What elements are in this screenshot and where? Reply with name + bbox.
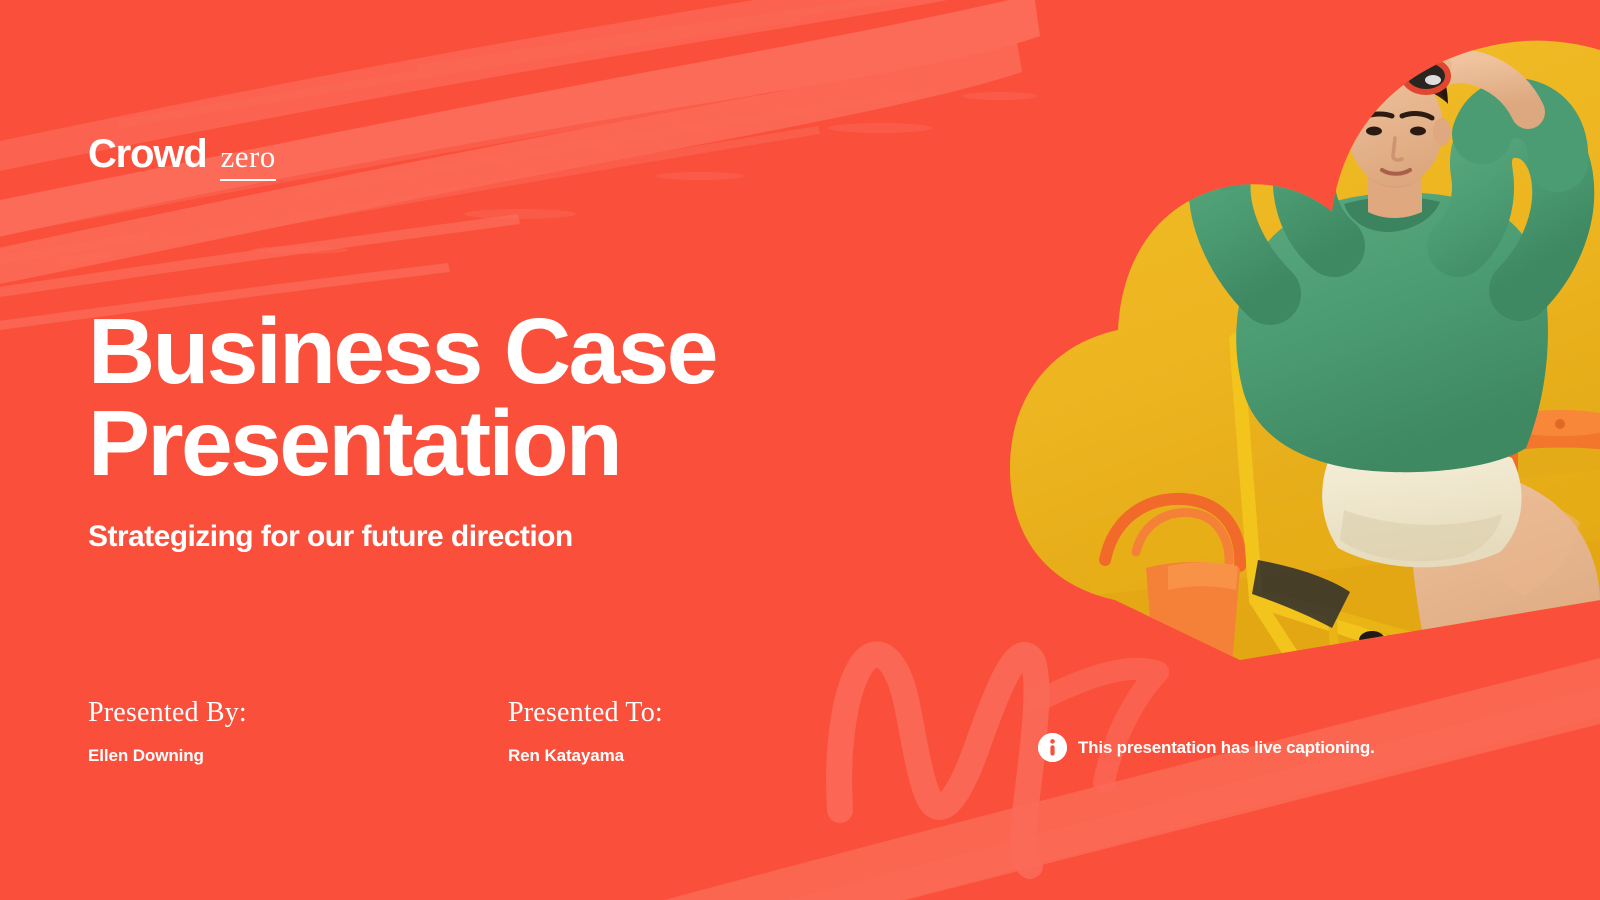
hero-photo [940,0,1600,720]
presented-by-column: Presented By: Ellen Downing [88,698,508,766]
logo-word-crowd: Crowd [88,134,206,174]
presented-by-name: Ellen Downing [88,746,508,766]
page-title-line-2: Presentation [88,397,968,489]
logo-word-zero-underline: zero [220,141,275,181]
headline-block: Business Case Presentation Strategizing … [88,305,968,554]
logo-word-zero: zero [220,141,275,172]
presented-to-column: Presented To: Ren Katayama [508,698,928,766]
page-title-line-1: Business Case [88,305,968,397]
live-captioning-text: This presentation has live captioning. [1078,738,1375,758]
info-icon [1038,733,1067,762]
brand-logo[interactable]: Crowd zero [88,134,276,181]
live-captioning-notice[interactable]: This presentation has live captioning. [1038,733,1375,762]
presented-to-label: Presented To: [508,698,928,729]
slide-canvas: Crowd zero Business Case Presentation St… [0,0,1600,900]
credits-block: Presented By: Ellen Downing Presented To… [88,698,928,766]
presented-to-name: Ren Katayama [508,746,928,766]
page-title: Business Case Presentation [88,305,968,489]
page-subtitle: Strategizing for our future direction [88,520,968,554]
presented-by-label: Presented By: [88,698,508,729]
